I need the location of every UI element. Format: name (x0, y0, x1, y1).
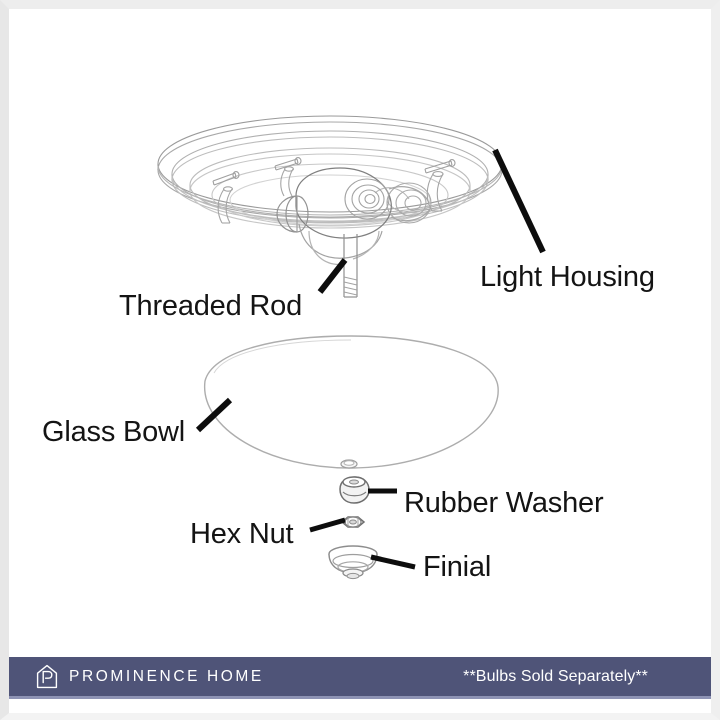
leader-light-housing (495, 150, 543, 252)
leader-threaded-rod (320, 260, 345, 292)
exploded-parts-illustration (9, 9, 711, 711)
brand-name: PROMINENCE HOME (69, 668, 264, 686)
leader-finial (371, 557, 415, 567)
brand-block: PROMINENCE HOME (36, 664, 264, 689)
label-finial: Finial (423, 551, 491, 584)
finial-drawing (329, 546, 377, 579)
diagram-canvas: Threaded Rod Light Housing Glass Bowl Ru… (9, 9, 711, 711)
label-light-housing: Light Housing (480, 261, 655, 294)
light-housing-drawing (158, 116, 502, 228)
label-rubber-washer: Rubber Washer (404, 487, 603, 520)
label-hex-nut: Hex Nut (190, 518, 293, 551)
bulbs-disclaimer-text: **Bulbs Sold Separately** (463, 668, 690, 686)
label-threaded-rod: Threaded Rod (119, 290, 302, 323)
house-p-logo-icon (36, 664, 58, 689)
glass-bowl-drawing (205, 336, 499, 468)
label-glass-bowl: Glass Bowl (42, 416, 185, 449)
rubber-washer-drawing (340, 477, 369, 503)
product-diagram-page: Threaded Rod Light Housing Glass Bowl Ru… (0, 0, 720, 720)
threaded-rod-drawing (344, 234, 357, 297)
leader-hex-nut (310, 520, 345, 530)
brand-footer-bar: PROMINENCE HOME **Bulbs Sold Separately*… (8, 657, 712, 699)
